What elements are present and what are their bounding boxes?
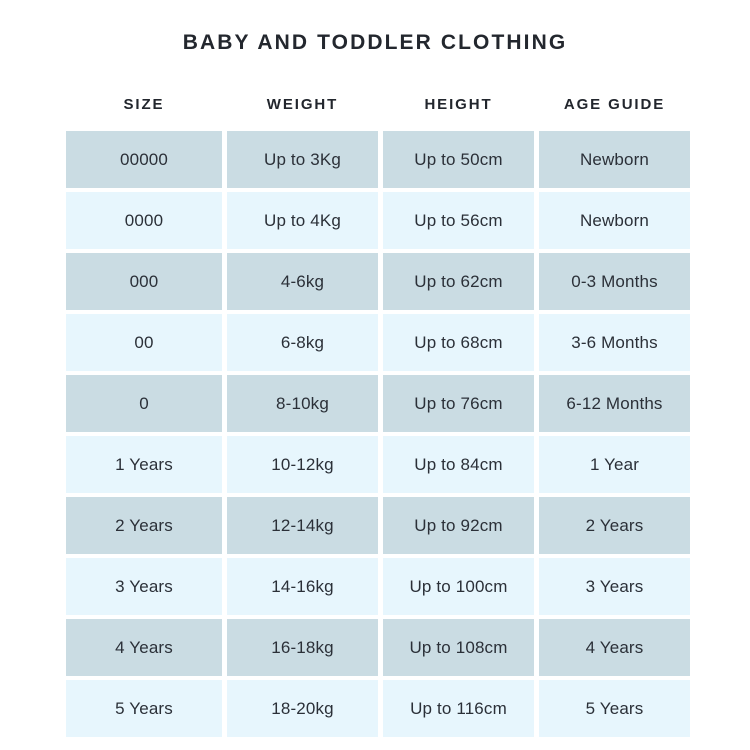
column-header-weight: WEIGHT <box>227 96 378 127</box>
table-row: 00000 Up to 3Kg Up to 50cm Newborn <box>66 131 690 188</box>
cell-weight: Up to 3Kg <box>227 131 378 188</box>
cell-size: 0000 <box>66 192 222 249</box>
cell-size: 2 Years <box>66 497 222 554</box>
cell-weight: 14-16kg <box>227 558 378 615</box>
table-row: 1 Years 10-12kg Up to 84cm 1 Year <box>66 436 690 493</box>
cell-weight: 10-12kg <box>227 436 378 493</box>
cell-size: 3 Years <box>66 558 222 615</box>
cell-weight: 16-18kg <box>227 619 378 676</box>
cell-height: Up to 92cm <box>383 497 534 554</box>
cell-height: Up to 76cm <box>383 375 534 432</box>
cell-size: 4 Years <box>66 619 222 676</box>
cell-age-guide: 1 Year <box>539 436 690 493</box>
size-chart-page: BABY AND TODDLER CLOTHING SIZE WEIGHT HE… <box>0 0 750 750</box>
table-header: SIZE WEIGHT HEIGHT AGE GUIDE <box>66 96 690 127</box>
cell-size: 1 Years <box>66 436 222 493</box>
table-row: 00 6-8kg Up to 68cm 3-6 Months <box>66 314 690 371</box>
cell-height: Up to 68cm <box>383 314 534 371</box>
table-row: 000 4-6kg Up to 62cm 0-3 Months <box>66 253 690 310</box>
column-header-size: SIZE <box>66 96 222 127</box>
table-row: 3 Years 14-16kg Up to 100cm 3 Years <box>66 558 690 615</box>
table-row: 0000 Up to 4Kg Up to 56cm Newborn <box>66 192 690 249</box>
table-row: 0 8-10kg Up to 76cm 6-12 Months <box>66 375 690 432</box>
cell-height: Up to 56cm <box>383 192 534 249</box>
cell-size: 00 <box>66 314 222 371</box>
cell-weight: 8-10kg <box>227 375 378 432</box>
cell-weight: 18-20kg <box>227 680 378 737</box>
cell-weight: 4-6kg <box>227 253 378 310</box>
cell-height: Up to 100cm <box>383 558 534 615</box>
cell-age-guide: 4 Years <box>539 619 690 676</box>
column-header-height: HEIGHT <box>383 96 534 127</box>
cell-height: Up to 108cm <box>383 619 534 676</box>
cell-weight: 6-8kg <box>227 314 378 371</box>
cell-size: 00000 <box>66 131 222 188</box>
cell-age-guide: Newborn <box>539 192 690 249</box>
cell-age-guide: 3 Years <box>539 558 690 615</box>
cell-age-guide: Newborn <box>539 131 690 188</box>
size-guide-table: SIZE WEIGHT HEIGHT AGE GUIDE 00000 Up to… <box>61 92 695 741</box>
table-row: 2 Years 12-14kg Up to 92cm 2 Years <box>66 497 690 554</box>
cell-age-guide: 5 Years <box>539 680 690 737</box>
cell-height: Up to 62cm <box>383 253 534 310</box>
cell-size: 000 <box>66 253 222 310</box>
cell-height: Up to 84cm <box>383 436 534 493</box>
table-row: 4 Years 16-18kg Up to 108cm 4 Years <box>66 619 690 676</box>
cell-size: 5 Years <box>66 680 222 737</box>
cell-age-guide: 2 Years <box>539 497 690 554</box>
cell-weight: Up to 4Kg <box>227 192 378 249</box>
cell-age-guide: 3-6 Months <box>539 314 690 371</box>
table-body: 00000 Up to 3Kg Up to 50cm Newborn 0000 … <box>66 131 690 737</box>
page-title: BABY AND TODDLER CLOTHING <box>0 30 750 56</box>
cell-age-guide: 6-12 Months <box>539 375 690 432</box>
cell-weight: 12-14kg <box>227 497 378 554</box>
cell-height: Up to 116cm <box>383 680 534 737</box>
table-row: 5 Years 18-20kg Up to 116cm 5 Years <box>66 680 690 737</box>
table-header-row: SIZE WEIGHT HEIGHT AGE GUIDE <box>66 96 690 127</box>
cell-age-guide: 0-3 Months <box>539 253 690 310</box>
cell-size: 0 <box>66 375 222 432</box>
cell-height: Up to 50cm <box>383 131 534 188</box>
column-header-age-guide: AGE GUIDE <box>539 96 690 127</box>
